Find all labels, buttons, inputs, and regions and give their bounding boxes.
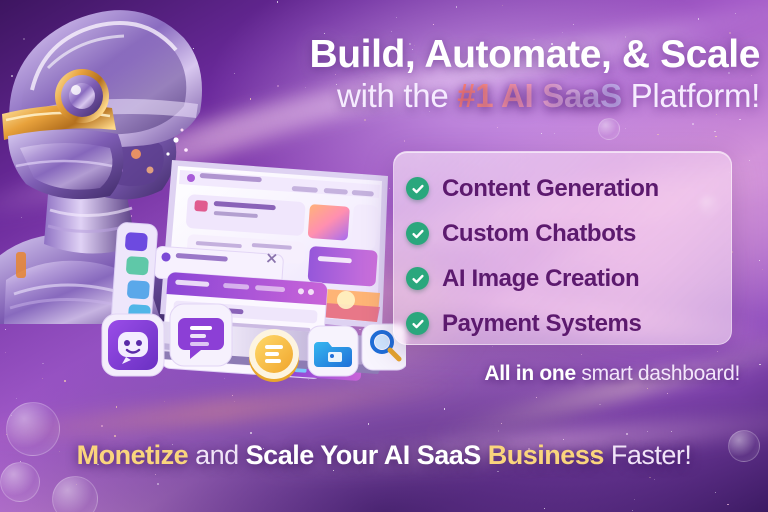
headline-line-2: with the #1 AI SaaS Platform! [180, 75, 760, 117]
check-icon [406, 222, 429, 245]
bottom-banner: Monetize and Scale Your AI SaaS Business… [0, 440, 768, 471]
feature-label: Payment Systems [442, 310, 641, 338]
check-icon [406, 177, 429, 200]
tagline: All in one smart dashboard! [484, 362, 740, 386]
check-icon [406, 312, 429, 335]
orb-decoration [598, 118, 620, 140]
feature-label: Content Generation [442, 175, 659, 203]
headline-line-1: Build, Automate, & Scale [180, 34, 760, 75]
feature-item: Payment Systems [406, 301, 731, 346]
headline: Build, Automate, & Scale with the #1 AI … [180, 34, 760, 118]
tagline-normal: smart dashboard! [576, 362, 740, 385]
banner-soft-2: Faster! [604, 440, 692, 470]
app-icon-row [96, 296, 406, 392]
coin-payment-icon [249, 329, 299, 382]
feature-label: AI Image Creation [442, 265, 639, 293]
banner-soft-1: and [188, 440, 246, 470]
orb-decoration [52, 476, 98, 512]
check-icon [406, 267, 429, 290]
headline-highlight: #1 AI SaaS [457, 77, 622, 114]
feature-label: Custom Chatbots [442, 220, 636, 248]
banner-white-1: Scale Your AI SaaS [246, 440, 488, 470]
chat-bubble-icon [170, 304, 232, 366]
feature-item: Custom Chatbots [406, 211, 731, 256]
banner-gold-2: Business [488, 440, 604, 470]
feature-item: AI Image Creation [406, 256, 731, 301]
feature-list-panel: Content Generation Custom Chatbots AI Im… [393, 151, 732, 345]
headline-prefix: with the [337, 77, 457, 114]
chatbot-face-icon [102, 314, 164, 376]
feature-item: Content Generation [406, 166, 731, 211]
promo-banner: Build, Automate, & Scale with the #1 AI … [0, 0, 768, 512]
headline-suffix: Platform! [622, 77, 760, 114]
banner-gold-1: Monetize [77, 440, 189, 470]
tagline-bold: All in one [484, 362, 576, 385]
media-folder-icon [308, 326, 358, 376]
